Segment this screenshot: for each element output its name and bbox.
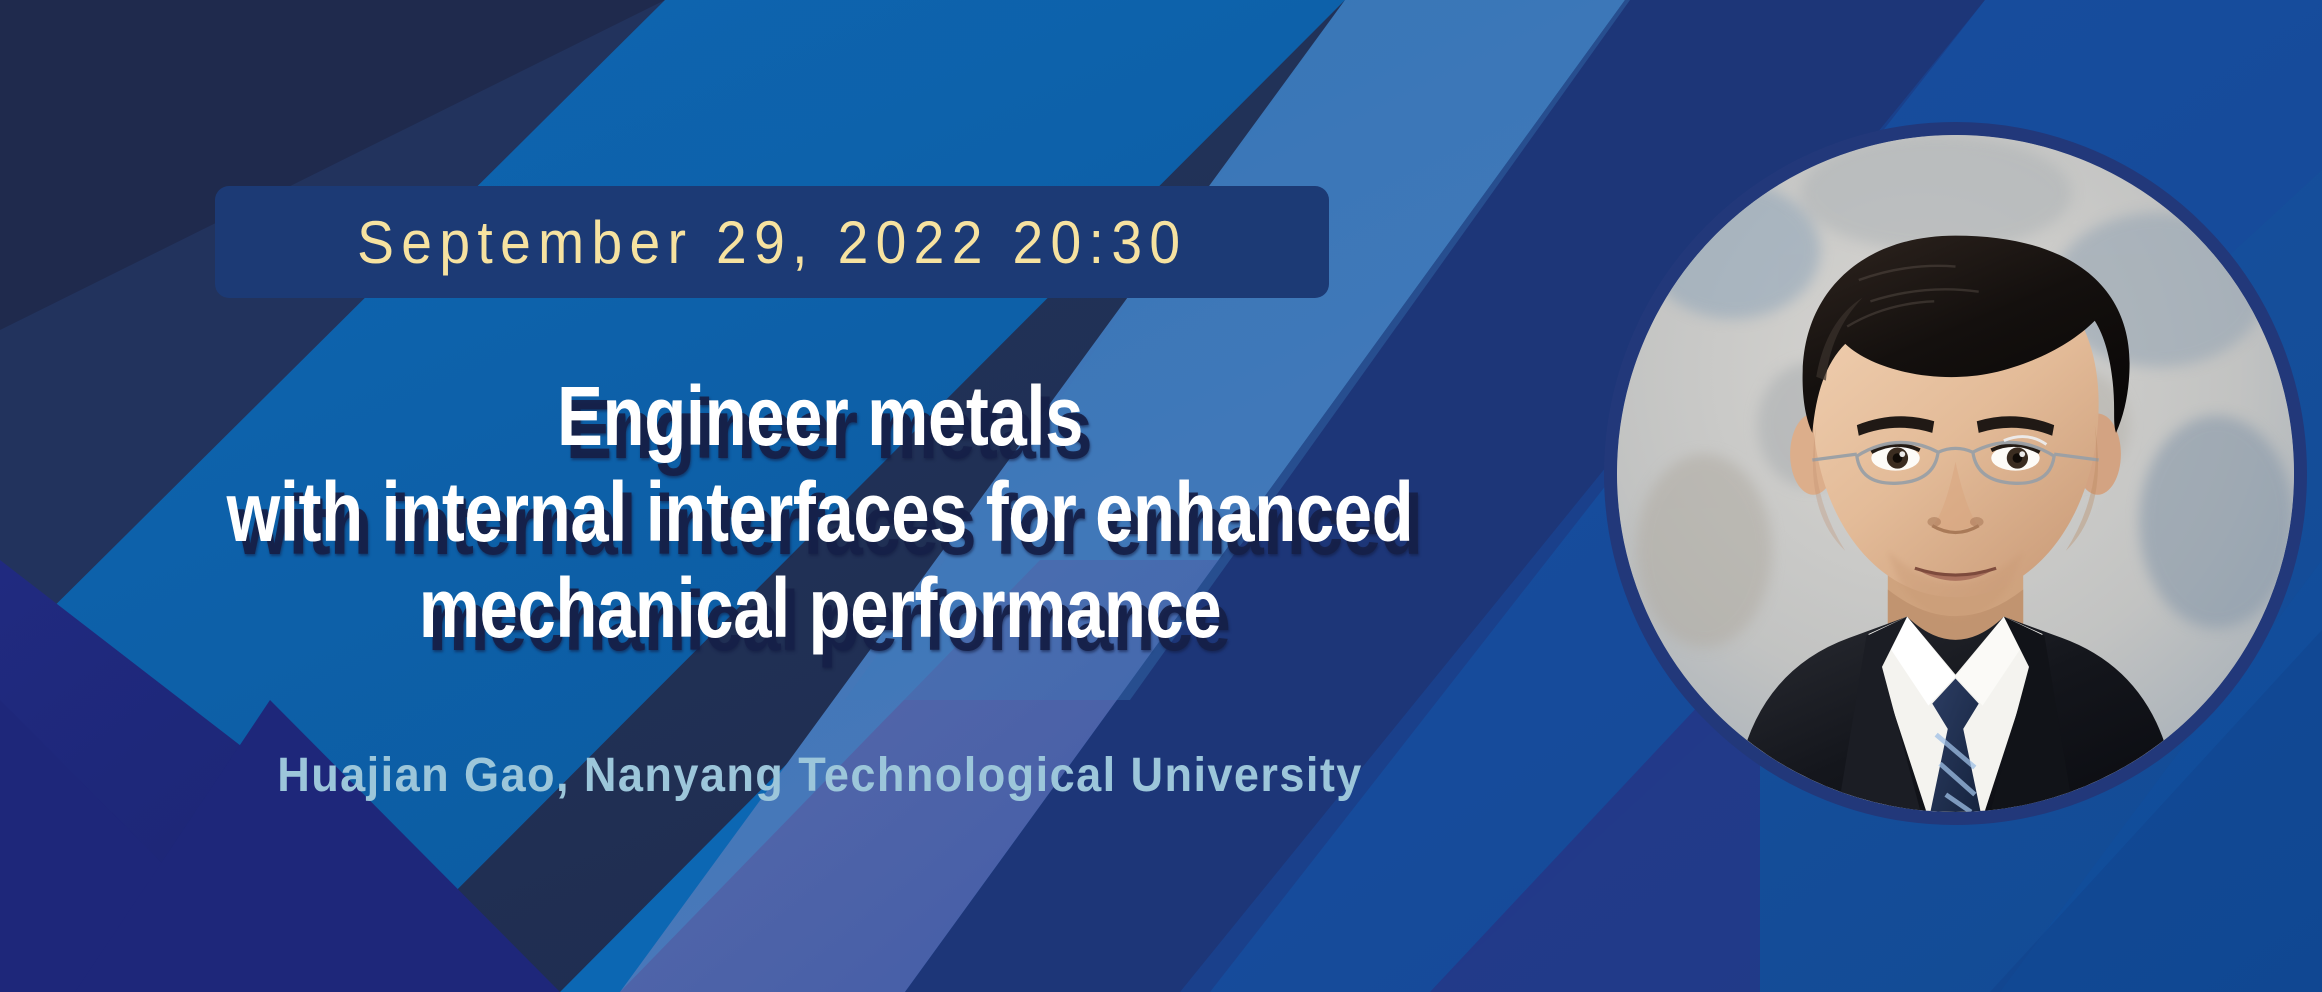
speaker-portrait — [1604, 122, 2307, 825]
seminar-banner: September 29, 2022 20:30 Engineer metals… — [0, 0, 2322, 992]
title-line-2: with internal interfaces for enhanced — [148, 464, 1493, 560]
title-line-3: mechanical performance — [148, 560, 1493, 656]
date-badge: September 29, 2022 20:30 — [215, 186, 1329, 298]
banner-content: September 29, 2022 20:30 Engineer metals… — [0, 0, 1640, 992]
date-time-text: September 29, 2022 20:30 — [357, 208, 1187, 277]
portrait-photo — [1617, 135, 2294, 812]
speaker-affiliation: Huajian Gao, Nanyang Technological Unive… — [49, 748, 1591, 803]
seminar-title: Engineer metals with internal interfaces… — [0, 368, 1640, 656]
portrait-ring — [1604, 122, 2307, 825]
title-line-1: Engineer metals — [148, 368, 1493, 464]
